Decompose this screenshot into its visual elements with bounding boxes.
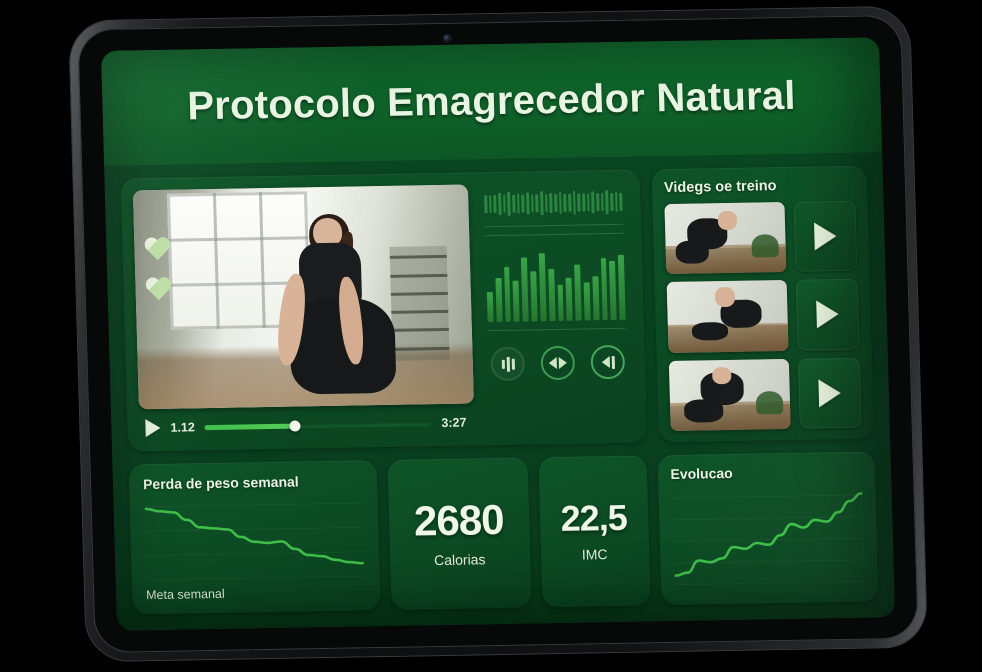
- dashboard-body: 1.12 3:27: [104, 152, 895, 630]
- waveform-bar: [540, 192, 543, 215]
- progress-slider[interactable]: [205, 421, 432, 430]
- equalizer-bar: [557, 285, 564, 321]
- waveform-bar: [507, 191, 510, 216]
- waveform-bar: [578, 194, 581, 212]
- divider: [488, 328, 626, 331]
- divider: [485, 224, 623, 227]
- card-title: Evolucao: [670, 463, 862, 482]
- equalizer-bar: [487, 292, 494, 322]
- equalizer-bar: [539, 253, 547, 321]
- audio-control-buttons: [488, 345, 627, 381]
- current-time-label: 1.12: [170, 420, 195, 434]
- progress-fill: [205, 423, 296, 430]
- equalizer-bar: [548, 269, 555, 321]
- waveform-bar: [498, 193, 501, 215]
- play-icon[interactable]: [145, 419, 161, 437]
- top-row: 1.12 3:27: [121, 166, 875, 452]
- audio-equalizer-chart: [486, 246, 626, 322]
- page-title: Protocolo Emagrecedor Natural: [187, 73, 796, 129]
- chart-line: [146, 505, 363, 567]
- heart-icon: [143, 238, 172, 264]
- equalizer-bar: [566, 278, 573, 321]
- video-thumbnail[interactable]: [667, 280, 789, 352]
- play-video-button[interactable]: [793, 201, 857, 272]
- video-column: 1.12 3:27: [133, 185, 475, 440]
- play-video-button[interactable]: [796, 279, 860, 350]
- app-header: Protocolo Emagrecedor Natural: [101, 37, 882, 166]
- gridline: [671, 495, 862, 498]
- waveform-bar: [559, 192, 562, 213]
- calories-label: Calorias: [434, 551, 486, 568]
- equalizer-bar: [584, 282, 591, 321]
- audio-visualizer-column: [478, 182, 635, 434]
- tablet-device: Protocolo Emagrecedor Natural: [69, 7, 927, 661]
- stats-row: Perda de peso semanal Meta semanal 2680 …: [128, 451, 878, 614]
- gridline: [145, 552, 364, 556]
- balance-right-icon: [601, 355, 614, 368]
- waveform-bar: [564, 194, 567, 212]
- equalizer-button[interactable]: [490, 347, 525, 382]
- waveform-bar: [592, 191, 595, 213]
- progress-knob[interactable]: [290, 420, 301, 431]
- waveform-bar: [620, 193, 623, 211]
- waveform-bar: [536, 194, 539, 212]
- evolution-card: Evolucao: [657, 451, 879, 605]
- bmi-value: 22,5: [560, 500, 627, 537]
- waveform-bar: [545, 194, 548, 212]
- waveform-bar: [484, 195, 487, 213]
- video-scene: [133, 185, 474, 410]
- waveform-bar: [615, 192, 618, 211]
- equalizer-icon: [501, 356, 514, 371]
- heart-overlay: [143, 238, 173, 318]
- person-figure: [271, 216, 410, 402]
- waveform-bar: [549, 193, 552, 213]
- waveform-bar: [568, 194, 571, 212]
- heart-icon: [144, 278, 173, 304]
- equalizer-bar: [574, 264, 581, 320]
- waveform-bar: [601, 193, 604, 211]
- front-camera-icon: [444, 35, 451, 42]
- gridline: [674, 582, 865, 585]
- screenshot-stage: Protocolo Emagrecedor Natural: [0, 0, 982, 672]
- waveform-bar: [605, 190, 608, 215]
- waveform-bar: [587, 193, 590, 211]
- gridline: [672, 517, 863, 520]
- video-list-item: [667, 279, 860, 353]
- main-video-frame[interactable]: [133, 185, 474, 410]
- waveform-bar: [554, 194, 557, 212]
- waveform-bar: [521, 195, 524, 213]
- card-title: Perda de peso semanal: [143, 472, 363, 492]
- balance-left-button[interactable]: [540, 346, 575, 381]
- video-list-item: [669, 357, 862, 431]
- video-thumbnail[interactable]: [664, 202, 786, 274]
- bmi-card: 22,5 IMC: [538, 455, 650, 607]
- waveform-bar: [512, 195, 515, 213]
- waveform-bar: [489, 195, 492, 213]
- card-footer-label: Meta semanal: [146, 584, 366, 602]
- gridline: [672, 538, 863, 541]
- tablet-screen: Protocolo Emagrecedor Natural: [101, 37, 895, 630]
- balance-left-icon: [549, 357, 567, 369]
- play-icon: [818, 379, 841, 407]
- chart-line: [673, 493, 863, 575]
- equalizer-bar: [504, 267, 511, 322]
- waveform-bar: [610, 193, 613, 211]
- waveform-bar: [596, 193, 599, 211]
- evolution-chart: [671, 485, 865, 590]
- equalizer-bar: [592, 276, 599, 320]
- play-icon: [816, 301, 839, 329]
- player-controls: 1.12 3:27: [139, 411, 475, 439]
- video-thumbnail[interactable]: [669, 359, 791, 431]
- audio-waveform-chart: [484, 188, 623, 218]
- video-player-panel: 1.12 3:27: [121, 170, 648, 452]
- training-videos-panel: Videgs oe treino: [651, 166, 874, 443]
- equalizer-bar: [618, 255, 626, 320]
- divider: [485, 233, 623, 236]
- equalizer-bar: [600, 258, 608, 320]
- play-video-button[interactable]: [798, 357, 862, 428]
- equalizer-bar: [521, 258, 529, 322]
- equalizer-bar: [513, 280, 520, 322]
- training-videos-title: Videgs oe treino: [664, 177, 855, 196]
- gridline: [146, 576, 365, 580]
- play-icon: [814, 222, 837, 250]
- waveform-bar: [503, 195, 506, 213]
- calories-card: 2680 Calorias: [387, 458, 531, 610]
- gridline: [144, 503, 363, 507]
- video-list-item: [664, 201, 857, 275]
- waveform-bar: [526, 192, 529, 215]
- total-time-label: 3:27: [441, 416, 466, 430]
- weight-loss-chart: [143, 494, 365, 584]
- equalizer-bar: [495, 278, 502, 322]
- waveform-bar: [493, 195, 496, 213]
- waveform-bar: [531, 194, 534, 212]
- waveform-bar: [517, 194, 520, 214]
- equalizer-bar: [609, 261, 616, 320]
- waveform-bar: [582, 193, 585, 212]
- bmi-label: IMC: [582, 546, 608, 562]
- calories-value: 2680: [413, 499, 504, 543]
- equalizer-bar: [530, 271, 537, 321]
- weekly-weight-loss-card: Perda de peso semanal Meta semanal: [128, 460, 380, 614]
- balance-right-button[interactable]: [590, 345, 625, 380]
- gridline: [144, 527, 363, 531]
- waveform-bar: [573, 191, 576, 215]
